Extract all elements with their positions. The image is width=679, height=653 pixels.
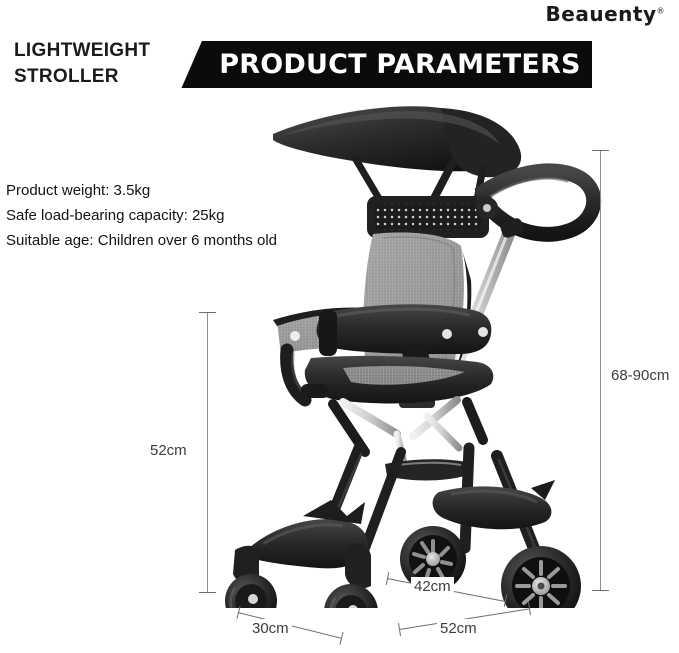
banner-subtitle-line-1: LIGHTWEIGHT [14, 38, 194, 64]
dimension-line-height [600, 150, 601, 590]
dimension-line-seat-height [207, 312, 208, 592]
dimension-tick-front-track-end [339, 632, 343, 645]
dimension-label-wheelbase: 52cm [437, 619, 480, 638]
brand-logo: Beauenty® [546, 2, 665, 26]
dimension-cap-height-bottom [592, 590, 609, 591]
stroller-handlebar [476, 171, 594, 234]
brand-name: Beauenty [546, 2, 657, 26]
registered-trademark-symbol: ® [657, 6, 666, 15]
rear-axle-beam [433, 480, 555, 529]
rear-wheel-far [501, 546, 581, 608]
dimension-cap-seat-top [199, 312, 216, 313]
page-title: PRODUCT PARAMETERS [208, 41, 592, 88]
dimension-cap-height-top [592, 150, 609, 151]
front-caster-wheel-right [324, 584, 378, 608]
header-banner: PRODUCT PARAMETERS LIGHTWEIGHT STROLLER [0, 34, 679, 96]
front-caster-wheel-left [225, 574, 277, 608]
backrest-mesh-panel [367, 196, 489, 238]
dimension-label-height: 68-90cm [608, 366, 672, 385]
stroller-product-image [215, 96, 615, 608]
banner-subtitle-line-2: STROLLER [14, 64, 194, 90]
banner-subtitle: LIGHTWEIGHT STROLLER [14, 38, 194, 90]
dimension-label-front-track: 30cm [249, 619, 292, 638]
product-parameters-infographic: Beauenty® PRODUCT PARAMETERS LIGHTWEIGHT… [0, 0, 679, 653]
dimension-cap-seat-bottom [199, 592, 216, 593]
seat-base [305, 356, 494, 404]
dimension-label-rear-track: 42cm [411, 577, 454, 596]
dimension-label-seat-height: 52cm [147, 441, 190, 460]
